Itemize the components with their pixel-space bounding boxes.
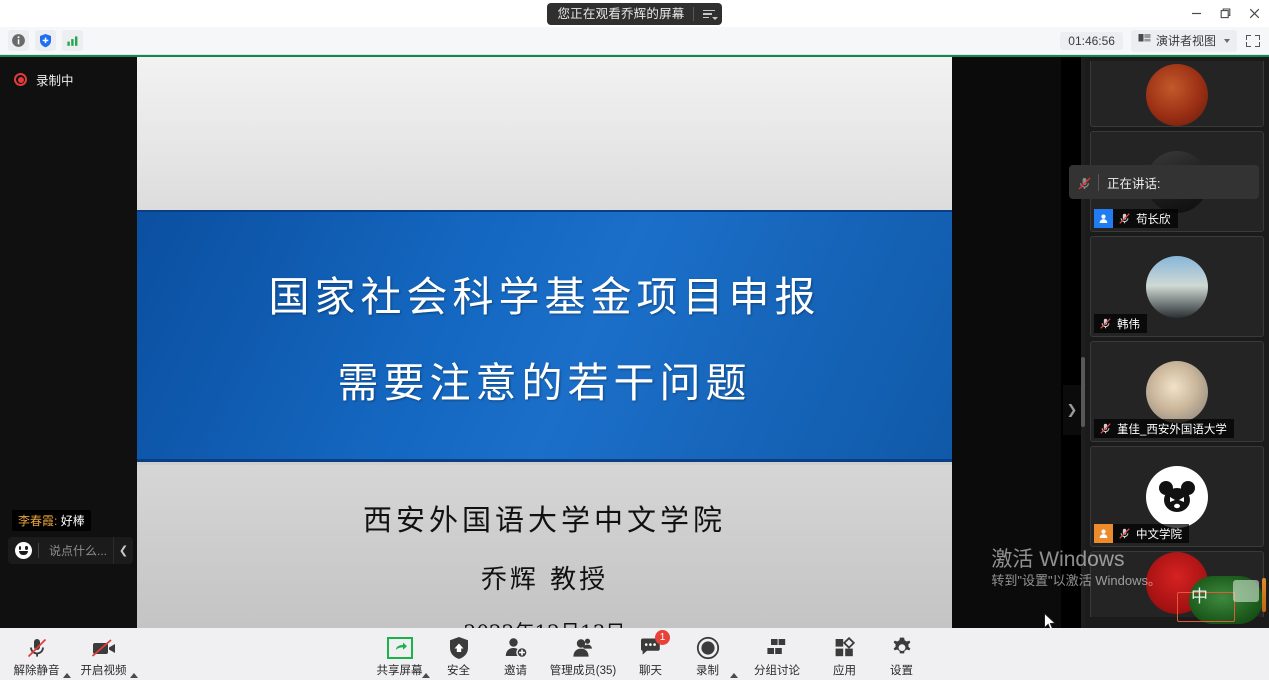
start-video-label: 开启视频 (81, 662, 127, 678)
participant-namebar: 苟长欣 (1094, 209, 1178, 228)
ime-language-icon: 中 (1183, 572, 1267, 626)
minimize-icon[interactable] (1182, 0, 1211, 27)
security-button[interactable]: 安全 (430, 630, 487, 678)
ime-indicator-bar (1262, 578, 1266, 612)
active-speaker-label: 正在讲话: (1107, 173, 1160, 192)
chevron-down-icon (1224, 39, 1230, 43)
participant-name: 中文学院 (1136, 526, 1182, 542)
close-icon[interactable] (1240, 0, 1269, 27)
zoom-meeting-window: 您正在观看乔辉的屏幕 (0, 0, 1269, 680)
toolbar-center-group: 共享屏幕 安全 (371, 630, 930, 678)
participant-name: 堇佳_西安外国语大学 (1117, 421, 1227, 437)
security-shield-icon (448, 635, 470, 660)
window-controls (1182, 0, 1269, 27)
meeting-right-controls: 01:46:56 演讲者视图 (1060, 30, 1269, 52)
meeting-info-bar: 01:46:56 演讲者视图 (0, 27, 1269, 55)
slide-organization: 西安外国语大学中文学院 (363, 497, 726, 539)
toolbar-left-group: 解除静音 开启视频 (0, 630, 138, 678)
participant-namebar: 堇佳_西安外国语大学 (1094, 419, 1234, 438)
mic-muted-icon (25, 635, 49, 660)
slide-top-margin (137, 57, 952, 210)
record-dot-icon (14, 73, 27, 86)
slide-presenter: 乔辉 教授 (481, 559, 608, 596)
invite-label: 邀请 (504, 662, 527, 678)
record-label: 录制 (696, 662, 719, 678)
breakout-rooms-label: 分组讨论 (754, 662, 800, 678)
slide-date: 2022年12月13日 (464, 616, 626, 628)
chat-label: 聊天 (639, 662, 662, 678)
apps-button[interactable]: 应用 (816, 630, 873, 678)
security-label: 安全 (447, 662, 470, 678)
info-icon[interactable] (8, 30, 29, 51)
participant-tile[interactable]: 韩伟 (1090, 236, 1264, 337)
shared-screen-content: 国家社会科学基金项目申报 需要注意的若干问题 西安外国语大学中文学院 乔辉 教授… (137, 57, 952, 628)
participant-name: 苟长欣 (1136, 211, 1171, 227)
apps-icon (833, 635, 857, 660)
breakout-rooms-icon (765, 635, 789, 660)
unmute-button[interactable]: 解除静音 (8, 630, 65, 678)
participant-name-chip: 苟长欣 (1113, 209, 1178, 228)
apps-label: 应用 (833, 662, 856, 678)
slide-subtitle-area: 西安外国语大学中文学院 乔辉 教授 2022年12月13日 (137, 465, 952, 628)
fullscreen-icon[interactable] (1245, 33, 1261, 49)
avatar (1146, 64, 1208, 126)
video-off-icon (90, 635, 118, 660)
sharing-status-label: 您正在观看乔辉的屏幕 (557, 3, 684, 25)
share-screen-button[interactable]: 共享屏幕 (371, 630, 428, 678)
window-titlebar: 您正在观看乔辉的屏幕 (0, 0, 1269, 27)
participant-tile[interactable] (1090, 61, 1264, 127)
participant-name: 韩伟 (1117, 316, 1140, 332)
share-screen-icon (387, 635, 413, 660)
mic-muted-icon (1099, 317, 1112, 330)
host-badge-icon (1094, 524, 1113, 543)
manage-participants-button[interactable]: 管理成员(35) (544, 630, 622, 678)
mic-muted-icon (1077, 176, 1090, 189)
chat-input-row[interactable]: 说点什么... ❮ (8, 537, 133, 564)
chat-message-bubble: 李春霞: 好棒 (12, 510, 91, 531)
avatar (1146, 361, 1208, 423)
active-speaker-banner: 正在讲话: (1069, 165, 1259, 199)
avatar (1146, 256, 1208, 318)
slide-title-band: 国家社会科学基金项目申报 需要注意的若干问题 (137, 210, 952, 462)
mic-muted-icon (1118, 527, 1131, 540)
participant-tile[interactable]: 中文学院 (1090, 446, 1264, 547)
left-side-panel: 录制中 李春霞: 好棒 说点什么... ❮ (0, 57, 137, 628)
meeting-timer: 01:46:56 (1060, 32, 1123, 50)
participant-namebar: 中文学院 (1094, 524, 1189, 543)
mic-muted-icon (1118, 212, 1131, 225)
shield-icon[interactable] (35, 30, 56, 51)
record-circle-icon (696, 635, 720, 660)
slide-title-line1: 国家社会科学基金项目申报 (269, 263, 821, 323)
slide-title-line2: 需要注意的若干问题 (338, 349, 752, 409)
host-badge-icon (1094, 209, 1113, 228)
ime-char: 中 (1191, 582, 1208, 607)
banner-divider (1098, 174, 1099, 191)
layout-icon (1138, 33, 1151, 49)
participants-icon (571, 635, 595, 660)
hamburger-menu-icon[interactable] (702, 7, 718, 21)
restore-icon[interactable] (1211, 0, 1240, 27)
participant-name-chip: 堇佳_西安外国语大学 (1094, 419, 1234, 438)
chat-message-sender: 李春霞: (18, 514, 57, 528)
participant-filmstrip: 正在讲话: (1085, 57, 1269, 628)
participant-namebar: 韩伟 (1094, 314, 1147, 333)
view-mode-label: 演讲者视图 (1156, 32, 1216, 49)
pill-divider (693, 7, 694, 21)
start-video-button[interactable]: 开启视频 (75, 630, 132, 678)
invite-button[interactable]: 邀请 (487, 630, 544, 678)
stage-background (952, 57, 1061, 628)
chevron-right-icon[interactable]: ❯ (1063, 385, 1081, 435)
chat-button[interactable]: 1 聊天 (622, 630, 679, 678)
recording-indicator[interactable]: 录制中 (14, 70, 74, 89)
ime-keyboard-icon (1233, 580, 1259, 602)
participant-name-chip: 韩伟 (1094, 314, 1147, 333)
meeting-stage: 录制中 李春霞: 好棒 说点什么... ❮ 国家社会科学基金项目申报 需要注意的… (0, 55, 1269, 628)
breakout-rooms-button[interactable]: 分组讨论 (738, 630, 816, 678)
cartoon-mouse-icon (1157, 480, 1197, 514)
settings-label: 设置 (890, 662, 913, 678)
record-button[interactable]: 录制 (679, 630, 736, 678)
chevron-left-icon[interactable]: ❮ (113, 537, 133, 564)
participant-tile[interactable]: 堇佳_西安外国语大学 (1090, 341, 1264, 442)
chat-message-body: 好棒 (61, 514, 85, 528)
mic-muted-icon (1099, 422, 1112, 435)
network-quality-icon[interactable] (62, 30, 83, 51)
participant-name-chip: 中文学院 (1113, 524, 1189, 543)
view-mode-button[interactable]: 演讲者视图 (1131, 30, 1237, 52)
recording-label: 录制中 (36, 70, 74, 89)
unmute-label: 解除静音 (14, 662, 60, 678)
emoji-smile-icon[interactable] (8, 537, 38, 564)
settings-gear-icon (890, 635, 914, 660)
sharing-status-pill[interactable]: 您正在观看乔辉的屏幕 (547, 3, 721, 25)
meeting-toolbar: 解除静音 开启视频 (0, 628, 1269, 680)
invite-person-icon (504, 635, 528, 660)
share-screen-label: 共享屏幕 (377, 662, 423, 678)
manage-participants-label: 管理成员(35) (550, 662, 616, 678)
settings-button[interactable]: 设置 (873, 630, 930, 678)
chat-input[interactable]: 说点什么... (39, 542, 113, 559)
chat-unread-badge: 1 (655, 630, 670, 645)
avatar (1146, 466, 1208, 528)
meeting-info-icons (0, 30, 83, 51)
